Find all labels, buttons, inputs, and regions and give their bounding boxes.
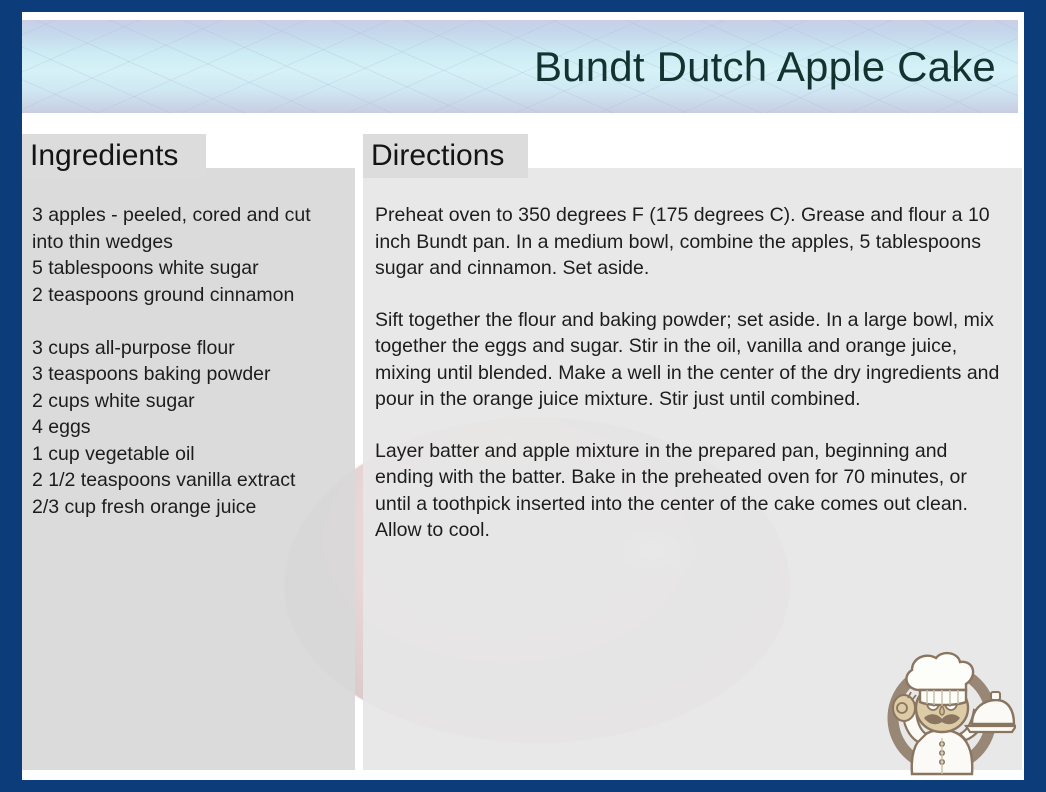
direction-paragraph: Sift together the flour and baking powde… [375,307,1002,413]
ingredients-panel: 3 apples - peeled, cored and cut into th… [22,168,355,770]
directions-header-tab: Directions [363,134,528,178]
directions-body: Preheat oven to 350 degrees F (175 degre… [363,168,1022,554]
ingredients-list: 3 apples - peeled, cored and cut into th… [22,168,355,530]
ingredients-header-label: Ingredients [30,141,178,171]
directions-panel: Preheat oven to 350 degrees F (175 degre… [363,168,1022,770]
ingredients-header-tab: Ingredients [22,134,206,178]
directions-header-label: Directions [371,141,504,171]
direction-paragraph: Layer batter and apple mixture in the pr… [375,438,1002,544]
page-title: Bundt Dutch Apple Cake [534,43,996,91]
direction-paragraph: Preheat oven to 350 degrees F (175 degre… [375,202,1002,282]
title-banner: Bundt Dutch Apple Cake [22,20,1018,113]
recipe-card: Bundt Dutch Apple Cake 3 apples - peeled… [0,0,1046,792]
page-sheet: Bundt Dutch Apple Cake 3 apples - peeled… [22,12,1024,780]
